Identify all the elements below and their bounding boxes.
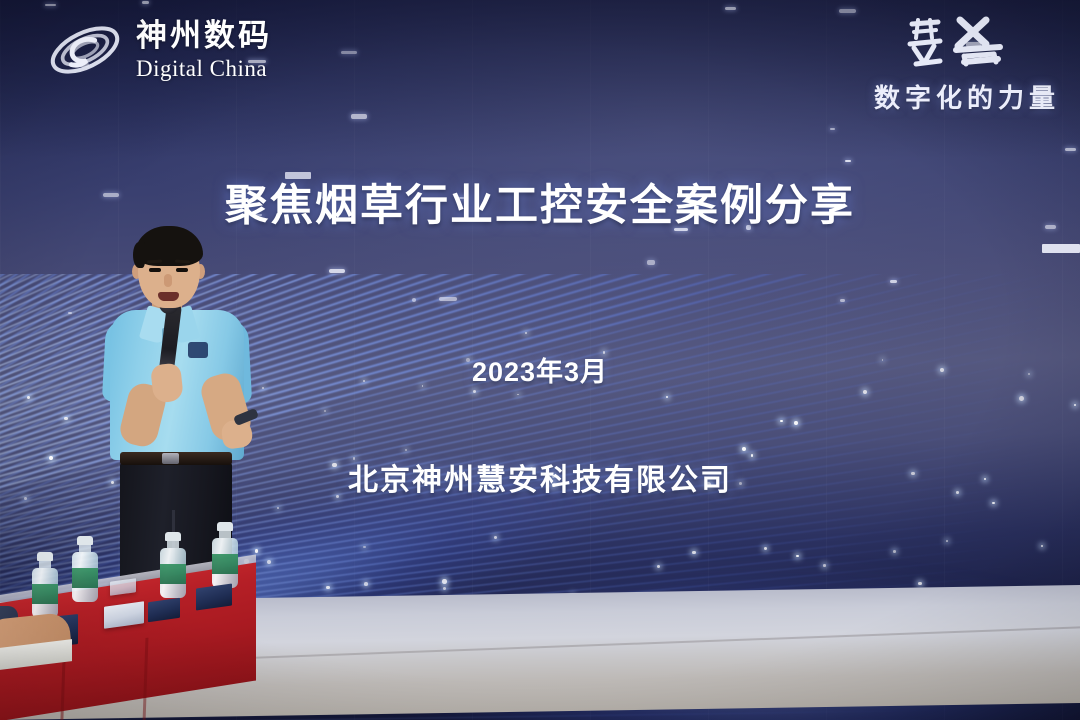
screen-white-bar-left	[285, 172, 311, 179]
dash-particle	[341, 51, 358, 54]
digital-china-wordmark: 神州数码 Digital China	[136, 20, 272, 80]
bottle-neck	[219, 531, 231, 538]
speaker-nose	[164, 274, 172, 287]
dash-particle	[647, 260, 655, 265]
sparkle-particle	[794, 421, 798, 425]
dash-particle	[1065, 148, 1076, 151]
speaker-chest-logo	[188, 342, 208, 358]
sparkle-particle	[823, 564, 826, 567]
sparkle-particle	[742, 447, 746, 451]
juhe-tagline: 数字化的力量	[816, 78, 1066, 115]
bottle-body	[160, 548, 186, 598]
seated-audience-member	[0, 584, 88, 676]
sparkle-particle	[796, 555, 799, 558]
sparkle-particle	[442, 579, 447, 584]
water-bottle	[212, 522, 238, 588]
juhe-logo: 数字化的力量	[816, 14, 1066, 115]
sparkle-particle	[692, 551, 696, 555]
sparkle-particle	[893, 550, 896, 553]
bottle-neck	[39, 561, 51, 568]
sparkle-particle	[1019, 396, 1024, 401]
sparkle-particle	[363, 546, 366, 549]
sparkle-particle	[405, 449, 407, 451]
digital-china-swirl-icon	[44, 16, 126, 84]
sparkle-particle	[918, 582, 922, 586]
speaker-left-hand	[150, 363, 184, 404]
speaker-belt-buckle	[162, 453, 179, 464]
screen-white-bar-right	[1042, 244, 1080, 253]
juhe-calligraphy-icon	[900, 14, 1030, 76]
speaker-eye-right	[176, 268, 188, 272]
speaker-mouth	[158, 292, 179, 301]
bottle-cap	[165, 532, 181, 541]
speaker-hair	[135, 226, 203, 266]
water-bottle	[160, 532, 186, 598]
digital-china-name-cn: 神州数码	[136, 20, 272, 51]
dash-particle	[439, 297, 457, 301]
speaker-eye-left	[149, 268, 161, 272]
sparkle-particle	[364, 582, 368, 586]
sparkle-particle	[64, 417, 68, 421]
dash-particle	[351, 114, 368, 119]
conference-stage-photo: 聚焦烟草行业工控安全案例分享 2023年3月 北京神州慧安科技有限公司 神州数码…	[0, 0, 1080, 720]
bottle-label	[160, 564, 186, 584]
bottle-cap	[77, 536, 93, 545]
sparkle-particle	[946, 540, 948, 542]
sparkle-particle	[992, 502, 995, 505]
bottle-neck	[167, 541, 179, 548]
sparkle-particle	[780, 420, 783, 423]
digital-china-logo: 神州数码 Digital China	[44, 16, 272, 84]
dash-particle	[329, 269, 345, 273]
digital-china-name-en: Digital China	[136, 57, 272, 80]
bottle-body	[212, 538, 238, 588]
sparkle-particle	[324, 410, 326, 412]
bottle-label	[212, 554, 238, 574]
bottle-cap	[217, 522, 233, 531]
sparkle-particle	[525, 332, 527, 334]
dash-particle	[890, 280, 897, 283]
dash-particle	[840, 299, 845, 302]
sparkle-particle	[657, 565, 660, 568]
sparkle-particle	[764, 547, 767, 550]
sparkle-particle	[267, 560, 271, 564]
dash-particle	[845, 160, 851, 162]
bottle-cap	[37, 552, 53, 561]
dash-particle	[142, 1, 149, 3]
dash-particle	[839, 9, 857, 14]
speaker-hair-side	[133, 242, 145, 268]
dash-particle	[725, 7, 737, 10]
bottle-neck	[79, 545, 91, 552]
